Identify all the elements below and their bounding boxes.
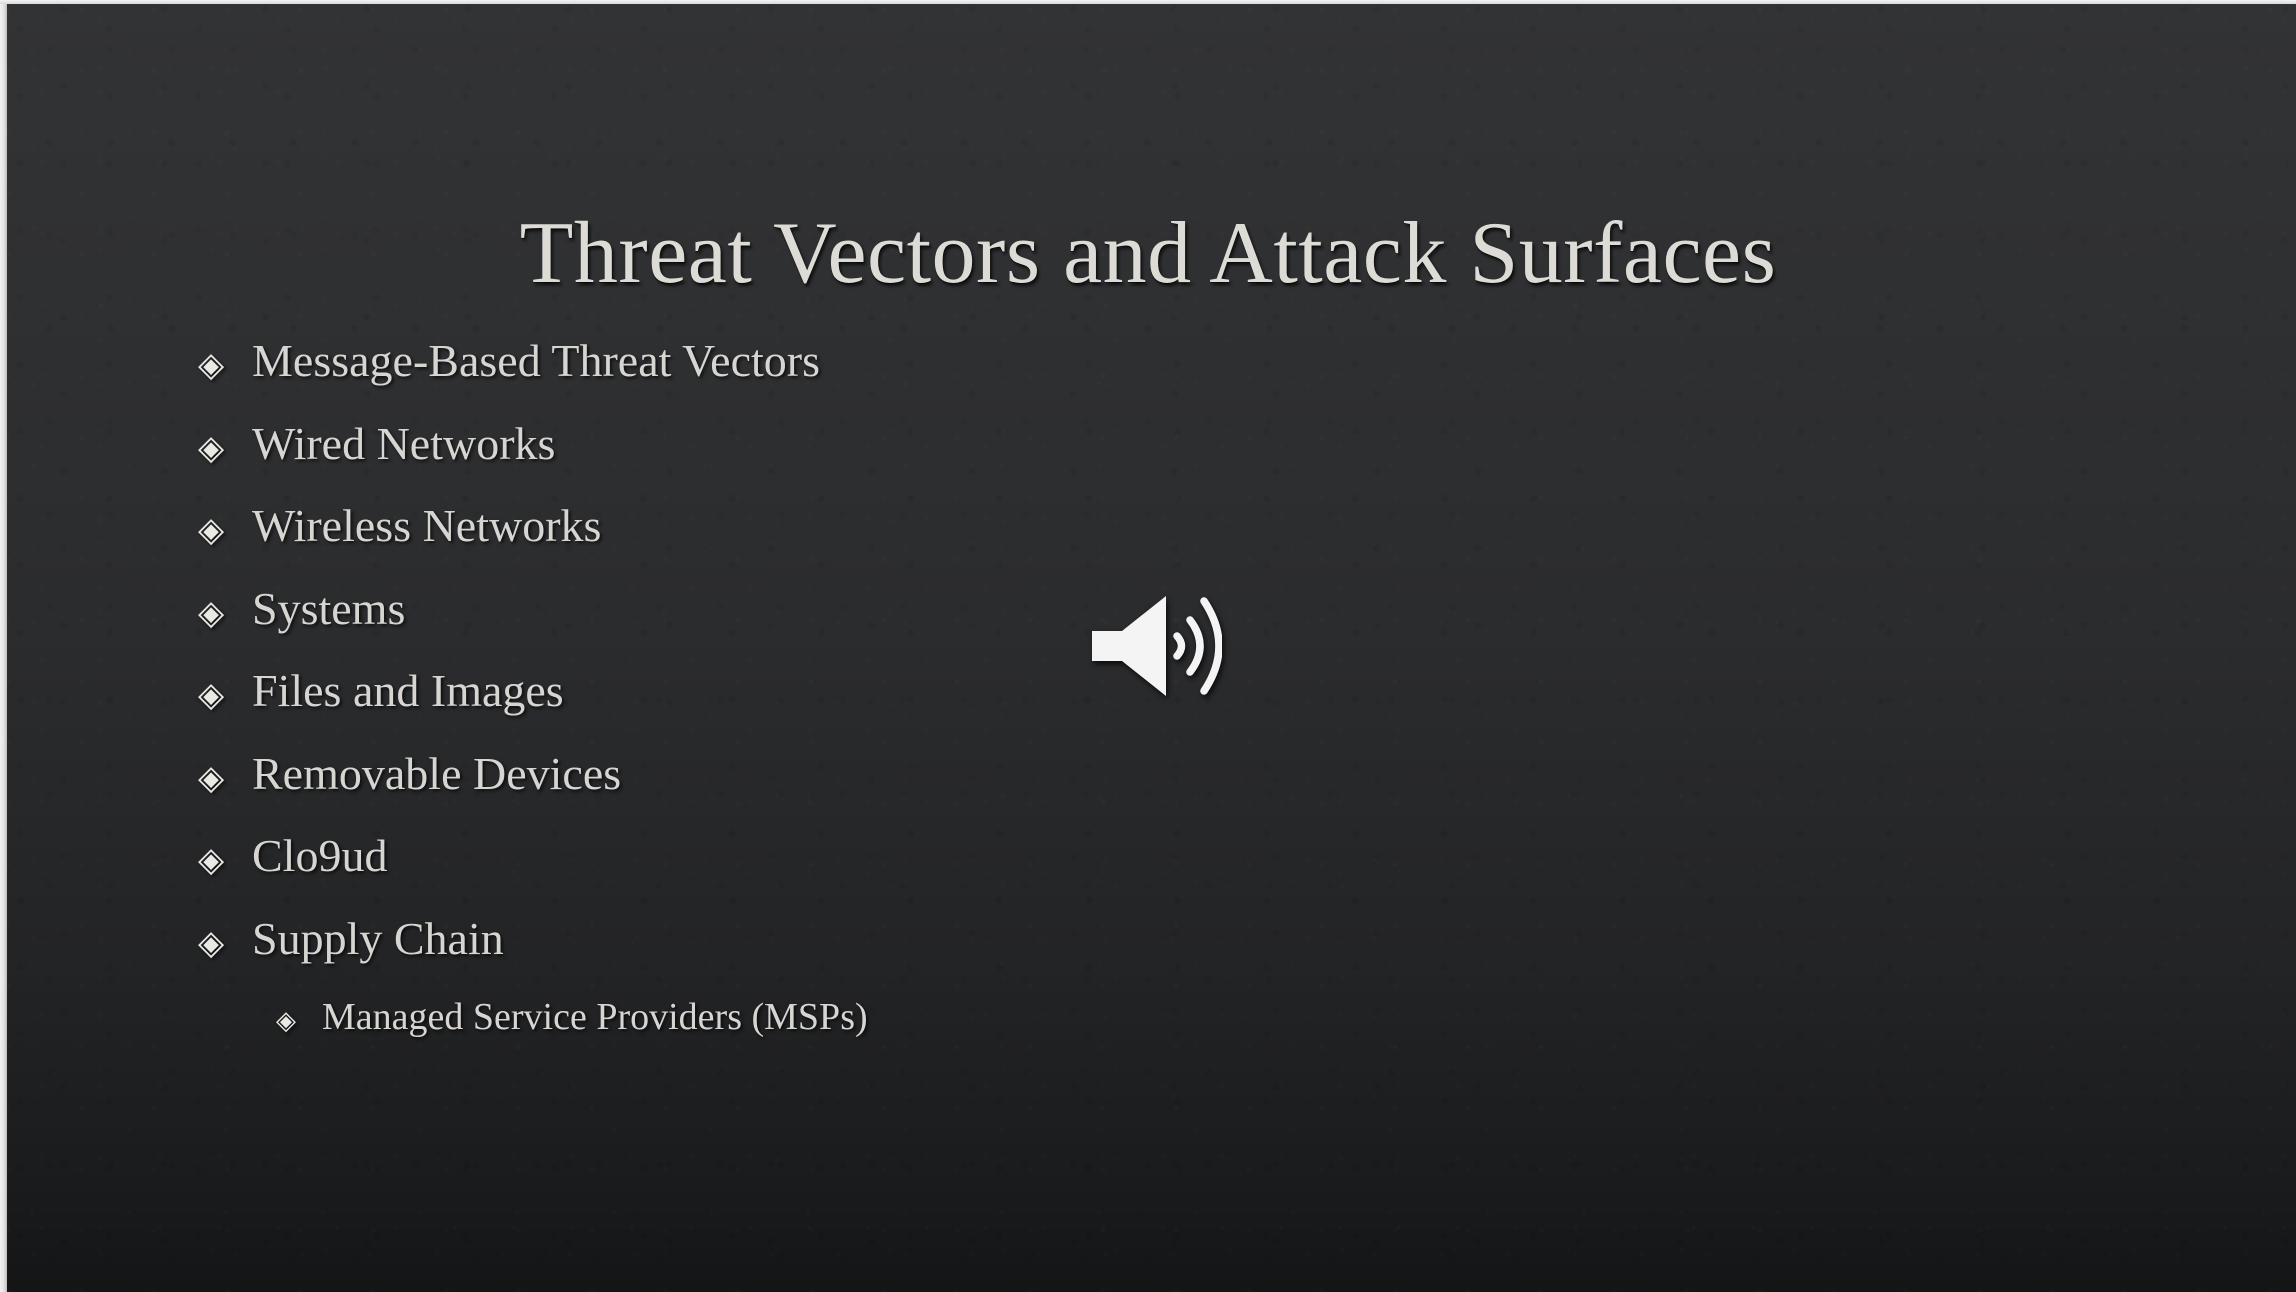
list-item[interactable]: ◈ Files and Images xyxy=(198,668,1598,751)
diamond-bullet-icon: ◈ xyxy=(198,513,252,547)
list-item-label: Wired Networks xyxy=(252,421,1598,467)
page-title: Threat Vectors and Attack Surfaces xyxy=(0,207,2296,300)
presentation-slide: Threat Vectors and Attack Surfaces ◈ Mes… xyxy=(0,0,2296,1292)
list-item-label: Systems xyxy=(252,586,1598,632)
diamond-bullet-icon: ◈ xyxy=(198,678,252,712)
speaker-audio-icon[interactable] xyxy=(1086,594,1222,698)
list-item-label: Supply Chain xyxy=(252,916,1598,962)
sub-list-item-label: Managed Service Providers (MSPs) xyxy=(322,998,1598,1036)
diamond-bullet-icon: ◈ xyxy=(198,431,252,465)
diamond-bullet-icon: ◈ xyxy=(198,843,252,877)
slide-top-bevel xyxy=(0,0,2296,4)
diamond-sub-bullet-icon: ◈ xyxy=(276,1008,322,1034)
list-item[interactable]: ◈ Wireless Networks xyxy=(198,503,1598,586)
slide-left-bevel xyxy=(0,0,7,1292)
list-item[interactable]: ◈ Supply Chain xyxy=(198,916,1598,999)
list-item[interactable]: ◈ Clo9ud xyxy=(198,833,1598,916)
diamond-bullet-icon: ◈ xyxy=(198,926,252,960)
list-item[interactable]: ◈ Wired Networks xyxy=(198,421,1598,504)
list-item[interactable]: ◈ Message-Based Threat Vectors xyxy=(198,338,1598,421)
diamond-bullet-icon: ◈ xyxy=(198,761,252,795)
bullet-list: ◈ Message-Based Threat Vectors ◈ Wired N… xyxy=(198,338,1598,1081)
list-item-label: Removable Devices xyxy=(252,751,1598,797)
diamond-bullet-icon: ◈ xyxy=(198,596,252,630)
list-item-label: Clo9ud xyxy=(252,833,1598,879)
list-item-label: Files and Images xyxy=(252,668,1598,714)
sub-list-item[interactable]: ◈ Managed Service Providers (MSPs) xyxy=(198,998,1598,1081)
list-item[interactable]: ◈ Removable Devices xyxy=(198,751,1598,834)
list-item-label: Message-Based Threat Vectors xyxy=(252,338,1598,384)
diamond-bullet-icon: ◈ xyxy=(198,348,252,382)
list-item[interactable]: ◈ Systems xyxy=(198,586,1598,669)
list-item-label: Wireless Networks xyxy=(252,503,1598,549)
